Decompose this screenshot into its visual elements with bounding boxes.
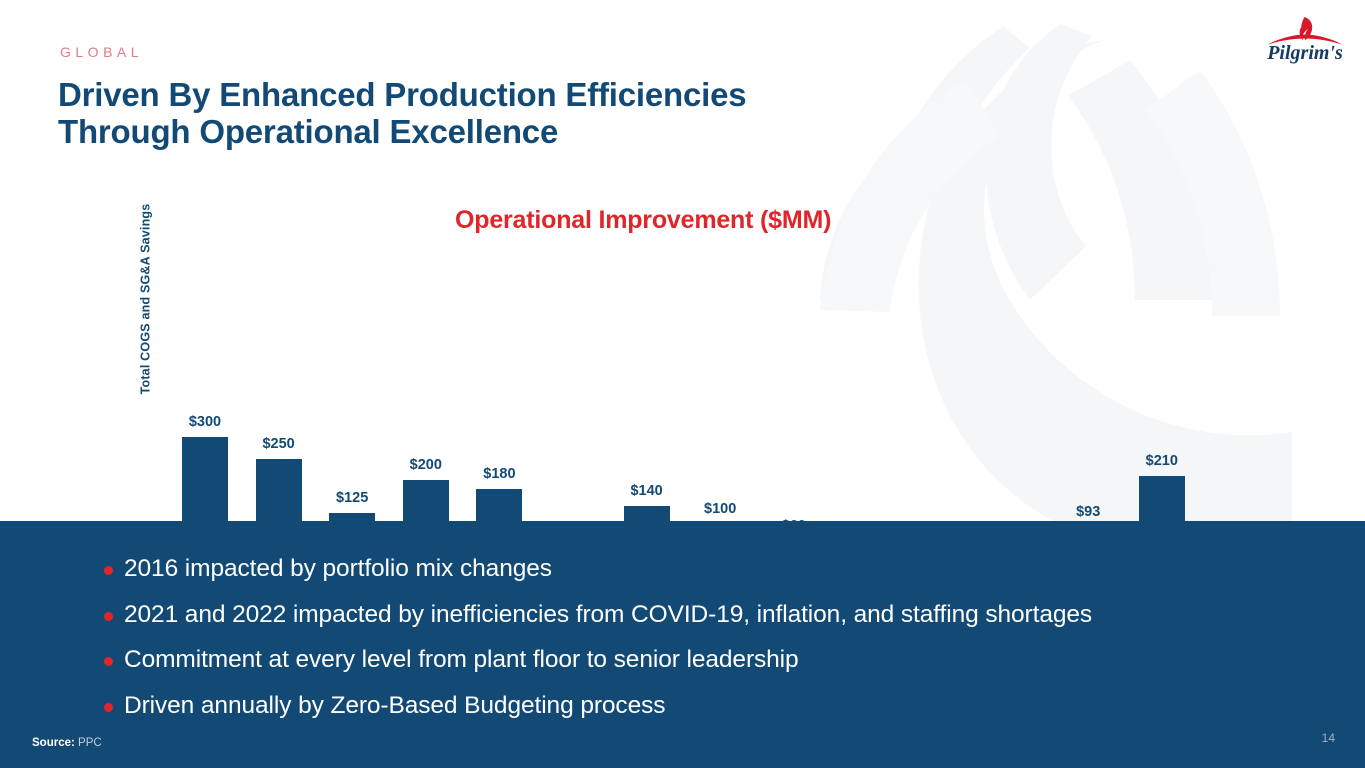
chart-area: $3002011$2502012$1252013$2002014$1802015… <box>0 180 1365 520</box>
list-item: 2021 and 2022 impacted by inefficiencies… <box>104 600 1334 630</box>
bar-value-label: $250 <box>242 436 316 452</box>
page-title: Driven By Enhanced Production Efficienci… <box>58 76 918 150</box>
list-item: Driven annually by Zero-Based Budgeting … <box>104 691 1334 721</box>
bullet-dot-icon <box>104 612 113 621</box>
slide: GLOBAL Driven By Enhanced Production Eff… <box>0 0 1365 768</box>
source-note: Source: PPC <box>32 737 102 749</box>
bar-value-label: $300 <box>168 414 242 430</box>
bar-value-label: $100 <box>683 501 757 517</box>
bullet-list: 2016 impacted by portfolio mix changes20… <box>104 554 1334 736</box>
list-item: 2016 impacted by portfolio mix changes <box>104 554 1334 584</box>
bullet-dot-icon <box>104 566 113 575</box>
bullet-text: Commitment at every level from plant flo… <box>124 645 799 675</box>
source-label: Source: <box>32 737 75 749</box>
bullet-text: 2016 impacted by portfolio mix changes <box>124 554 552 584</box>
page-title-line-1: Driven By Enhanced Production Efficienci… <box>58 76 918 113</box>
bullet-text: Driven annually by Zero-Based Budgeting … <box>124 691 665 721</box>
page-number: 14 <box>1322 731 1335 745</box>
page-title-line-2: Through Operational Excellence <box>58 113 918 150</box>
pilgrims-logo: Pilgrim's <box>1257 14 1353 66</box>
source-value: PPC <box>78 737 102 749</box>
bullet-text: 2021 and 2022 impacted by inefficiencies… <box>124 600 1092 630</box>
bar-value-label: $210 <box>1125 453 1199 469</box>
notes-panel: 2016 impacted by portfolio mix changes20… <box>0 521 1365 768</box>
logo-wordmark: Pilgrim's <box>1266 42 1343 64</box>
bar-value-label: $125 <box>315 490 389 506</box>
bar-value-label: $200 <box>389 457 463 473</box>
bar-value-label: $180 <box>462 466 536 482</box>
eyebrow-label: GLOBAL <box>60 44 143 60</box>
list-item: Commitment at every level from plant flo… <box>104 645 1334 675</box>
bar-value-label: $140 <box>610 483 684 499</box>
bullet-dot-icon <box>104 657 113 666</box>
bullet-dot-icon <box>104 703 113 712</box>
bar-value-label: $93 <box>1051 504 1125 520</box>
